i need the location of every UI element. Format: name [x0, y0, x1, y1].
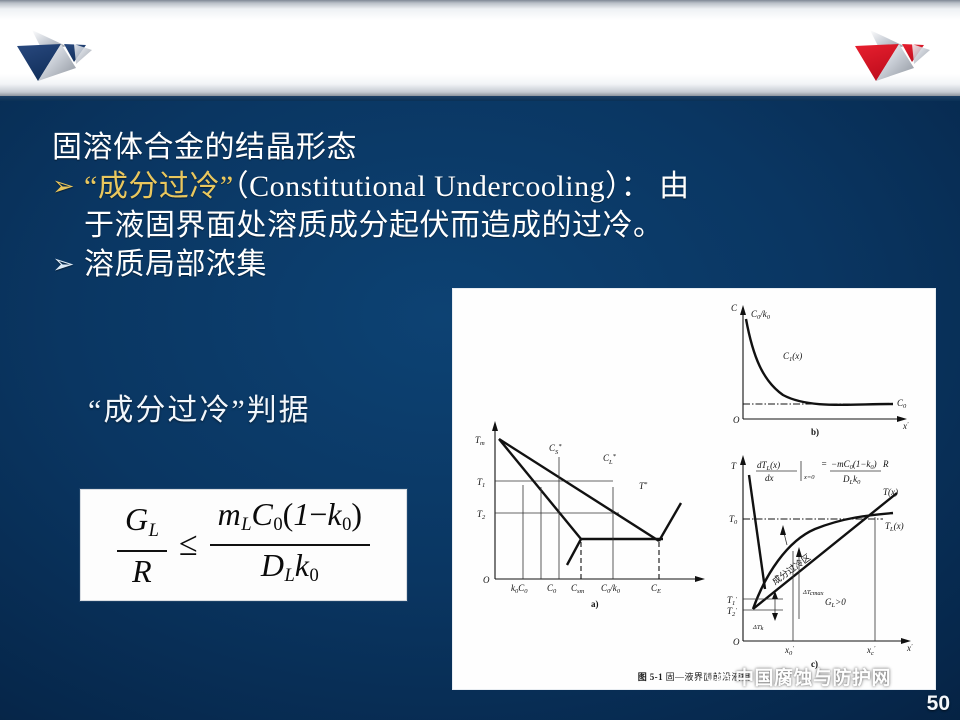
- svg-text:C0: C0: [897, 398, 907, 410]
- svg-text:C0: C0: [547, 583, 557, 595]
- slide-root: 固溶体合金的结晶形态 ➢ “成分过冷”（Constitutional Under…: [0, 0, 960, 720]
- formula-left-denominator: R: [124, 552, 160, 590]
- svg-text:dTL(x): dTL(x): [757, 460, 780, 472]
- formula-right-denominator: DLk0: [253, 546, 327, 595]
- svg-text:TL(x): TL(x): [885, 521, 904, 533]
- svg-text:ΔTk: ΔTk: [752, 624, 763, 632]
- svg-text:k0C0: k0C0: [511, 583, 528, 595]
- svg-text:dx: dx: [765, 473, 774, 483]
- svg-text:T: T: [731, 461, 737, 471]
- svg-text:=: =: [821, 459, 827, 469]
- svg-text:T2': T2': [727, 606, 737, 618]
- svg-text:−mC0(1−k0): −mC0(1−k0): [831, 459, 877, 471]
- svg-text:T2: T2: [477, 509, 486, 521]
- bullet-1-continuation: 于液固界面处溶质成分起伏而造成的过冷。: [52, 206, 932, 245]
- svg-text:T0: T0: [729, 514, 738, 526]
- svg-text:T(x): T(x): [883, 487, 898, 497]
- panel-b-label: b): [811, 427, 819, 437]
- formula-box: GL R ≤ mLC0(1−k0) DLk0: [80, 489, 407, 601]
- svg-text:O: O: [483, 575, 490, 585]
- svg-text:DLk0: DLk0: [842, 474, 861, 486]
- svg-text:O: O: [733, 637, 740, 647]
- svg-text:O: O: [733, 415, 740, 425]
- bullet-2-text: 溶质局部浓集: [84, 245, 267, 284]
- panel-c: T O x' dTL(x) dx x=0 = −mC0(1−k0) DLk0 R: [727, 455, 913, 669]
- header-band: [0, 0, 960, 98]
- wechat-icon: [706, 667, 730, 687]
- svg-text:CL*: CL*: [603, 453, 617, 466]
- svg-text:T*: T*: [639, 481, 648, 491]
- svg-text:Tm: Tm: [475, 435, 485, 447]
- arrow-bullet-icon: ➢: [52, 245, 78, 284]
- svg-text:CE: CE: [651, 583, 661, 595]
- figure-caption-number: 图 5-1: [638, 672, 663, 682]
- figure-panel: .ax { stroke:#111; stroke-width:1.1; fil…: [452, 288, 936, 690]
- panel-a: O Tm T1 T2: [475, 421, 705, 609]
- svg-text:x': x': [902, 421, 909, 431]
- formula-right-numerator: mLC0(1−k0): [210, 495, 370, 544]
- svg-text:ΔTcmax: ΔTcmax: [802, 589, 824, 597]
- svg-text:x': x': [906, 643, 913, 653]
- header-divider: [0, 96, 960, 101]
- panel-c-formula: dTL(x) dx x=0 = −mC0(1−k0) DLk0 R: [756, 459, 889, 486]
- formula-left-fraction: GL R: [117, 500, 167, 589]
- svg-text:C1(x): C1(x): [783, 351, 802, 363]
- bullet-1-rest: （Constitutional Undercooling）： 由: [234, 170, 690, 203]
- svg-text:Csm: Csm: [571, 583, 585, 595]
- formula-left-numerator: GL: [117, 500, 167, 549]
- svg-text:T1: T1: [477, 477, 485, 489]
- bullet-item-1: ➢ “成分过冷”（Constitutional Undercooling）： 由: [52, 167, 932, 206]
- blue-arrow-logo: [14, 24, 100, 86]
- panel-b: C O x' C0/k0 C1(x) C0 b): [731, 303, 909, 437]
- figure-diagram: .ax { stroke:#111; stroke-width:1.1; fil…: [453, 289, 935, 689]
- bullet-1-text: “成分过冷”（Constitutional Undercooling）： 由: [84, 167, 690, 206]
- watermark-text: 中国腐蚀与防护网: [735, 663, 891, 690]
- svg-text:x=0: x=0: [803, 474, 815, 481]
- bullet-item-2: ➢ 溶质局部浓集: [52, 245, 932, 284]
- svg-text:C0/k0: C0/k0: [751, 309, 771, 321]
- formula-relation: ≤: [179, 526, 198, 564]
- svg-text:C: C: [731, 303, 738, 313]
- svg-text:C0/k0: C0/k0: [601, 583, 621, 595]
- svg-text:xc': xc': [866, 645, 876, 657]
- page-title: 固溶体合金的结晶形态: [52, 128, 932, 167]
- svg-text:GL>0: GL>0: [825, 597, 846, 609]
- content-text-block: 固溶体合金的结晶形态 ➢ “成分过冷”（Constitutional Under…: [52, 128, 932, 284]
- criterion-label: “成分过冷”判据: [88, 385, 311, 429]
- panel-a-label: a): [591, 599, 599, 609]
- arrow-bullet-icon: ➢: [52, 167, 78, 206]
- svg-text:x0': x0': [784, 645, 794, 657]
- undercooling-region-label: 成分过冷区: [770, 551, 813, 586]
- formula-right-fraction: mLC0(1−k0) DLk0: [210, 495, 370, 595]
- svg-text:R: R: [882, 459, 889, 469]
- svg-text:CS*: CS*: [549, 443, 562, 456]
- watermark: 中国腐蚀与防护网: [706, 663, 891, 690]
- page-number: 50: [927, 692, 950, 716]
- bullet-1-highlight: “成分过冷”: [84, 170, 234, 203]
- red-arrow-logo: [852, 24, 938, 86]
